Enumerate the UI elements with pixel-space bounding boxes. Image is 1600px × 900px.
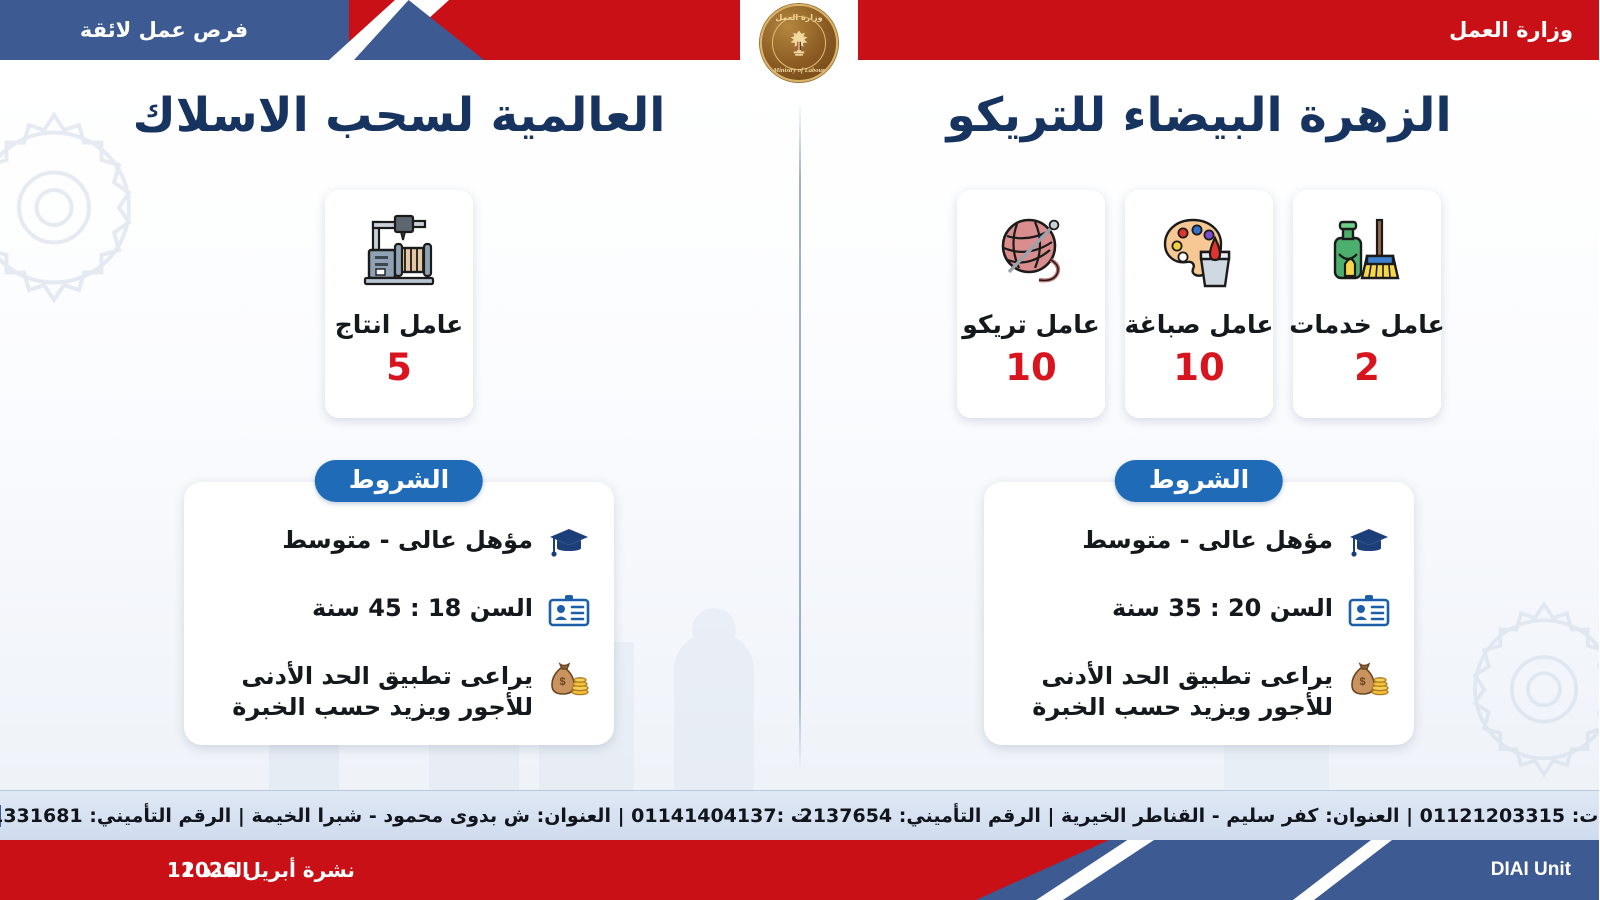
ministry-of-labour-seal-icon: وزارة العمل Ministry of Labour	[761, 4, 839, 82]
svg-text:$: $	[560, 676, 566, 688]
conditions-wrap: الشروط مؤهل عالى - متوسط	[0, 460, 800, 745]
job-card[interactable]: عامل صباغة 10	[1126, 190, 1274, 418]
job-count: 2	[1355, 349, 1381, 386]
address-left: ت: 01121203315 | العنوان: كفر سليم - الق…	[800, 805, 1600, 827]
company-title: الزهرة البيضاء للتريكو	[800, 90, 1600, 142]
bulletin-date: نشرة أبريل 2026	[182, 840, 356, 900]
emblem-container: وزارة العمل Ministry of Labour	[725, 0, 875, 82]
page-footer: www.manpower.gov.eg العدد 11 نشرة أبريل …	[0, 840, 1600, 900]
conditions-block: الشروط مؤهل عالى - متوسط	[985, 460, 1415, 745]
condition-text: يراعى تطبيق الحد الأدنى للأجور ويزيد حسب…	[1007, 658, 1334, 723]
condition-item: السن 18 : 45 سنة	[207, 590, 593, 632]
job-label: عامل خدمات	[1290, 312, 1445, 337]
job-label: عامل تريكو	[963, 312, 1101, 337]
conditions-block: الشروط مؤهل عالى - متوسط	[185, 460, 615, 745]
job-card[interactable]: عامل تريكو 10	[958, 190, 1106, 418]
company-panel-right: الزهرة البيضاء للتريكو	[800, 82, 1600, 782]
condition-item: مؤهل عالى - متوسط	[207, 522, 593, 564]
ministry-name: وزارة العمل	[1450, 0, 1574, 60]
money-bag-icon: $	[1347, 658, 1393, 700]
condition-item: مؤهل عالى - متوسط	[1007, 522, 1393, 564]
condition-item: السن 20 : 35 سنة	[1007, 590, 1393, 632]
job-card[interactable]: عامل انتاج 5	[326, 190, 474, 418]
condition-item: $ يراعى تطبيق الحد الأدنى للأجور ويزيد ح…	[207, 658, 593, 723]
address-right: ت :01141404137 | العنوان: ش بدوى محمود -…	[0, 805, 800, 827]
job-cards-row: عامل انتاج 5	[0, 190, 800, 418]
conditions-badge: الشروط	[1116, 460, 1284, 502]
condition-text: السن 20 : 35 سنة	[1113, 590, 1334, 624]
job-cards-row: عامل خدمات 2	[800, 190, 1600, 418]
conditions-wrap: الشروط مؤهل عالى - متوسط	[800, 460, 1600, 745]
company-panel-left: العالمية لسحب الاسلاك	[0, 82, 800, 782]
emblem-bottom-text: Ministry of Labour	[763, 67, 837, 74]
conditions-badge: الشروط	[316, 460, 484, 502]
job-card[interactable]: عامل خدمات 2	[1294, 190, 1442, 418]
paint-palette-icon	[1154, 206, 1246, 298]
diai-unit-label: DIAI Unit	[1492, 840, 1572, 900]
wire-drawing-machine-icon	[354, 206, 446, 298]
main-content: الزهرة البيضاء للتريكو	[0, 82, 1600, 782]
graduation-cap-icon	[547, 522, 593, 564]
id-card-icon	[547, 590, 593, 632]
money-bag-icon: $	[547, 658, 593, 700]
job-label: عامل صباغة	[1126, 312, 1275, 337]
footer-red-band	[0, 840, 1110, 900]
eagle-of-saladin-icon	[787, 28, 813, 58]
job-label: عامل انتاج	[336, 312, 465, 337]
conditions-card: مؤهل عالى - متوسط	[185, 482, 615, 745]
id-card-icon	[1347, 590, 1393, 632]
job-count: 10	[1006, 349, 1058, 386]
address-text: ت :01141404137 | العنوان: ش بدوى محمود -…	[0, 805, 811, 827]
job-count: 5	[387, 349, 413, 386]
page-header: فرص عمل لائقة وزارة العمل وزارة العمل Mi…	[0, 0, 1600, 82]
condition-item: $ يراعى تطبيق الحد الأدنى للأجور ويزيد ح…	[1007, 658, 1393, 723]
company-title: العالمية لسحب الاسلاك	[0, 90, 800, 142]
emblem-inner-ring	[773, 16, 827, 70]
address-text: ت: 01121203315 | العنوان: كفر سليم - الق…	[801, 805, 1600, 827]
yarn-ball-icon	[986, 206, 1078, 298]
condition-text: مؤهل عالى - متوسط	[283, 522, 534, 556]
address-bar: ت: 01121203315 | العنوان: كفر سليم - الق…	[0, 790, 1600, 840]
header-tagline: فرص عمل لائقة	[0, 0, 330, 60]
condition-text: يراعى تطبيق الحد الأدنى للأجور ويزيد حسب…	[207, 658, 534, 723]
svg-text:$: $	[1360, 676, 1366, 688]
graduation-cap-icon	[1347, 522, 1393, 564]
cleaning-supplies-icon	[1322, 206, 1414, 298]
condition-text: مؤهل عالى - متوسط	[1083, 522, 1334, 556]
job-count: 10	[1174, 349, 1226, 386]
conditions-card: مؤهل عالى - متوسط	[985, 482, 1415, 745]
condition-text: السن 18 : 45 سنة	[313, 590, 534, 624]
